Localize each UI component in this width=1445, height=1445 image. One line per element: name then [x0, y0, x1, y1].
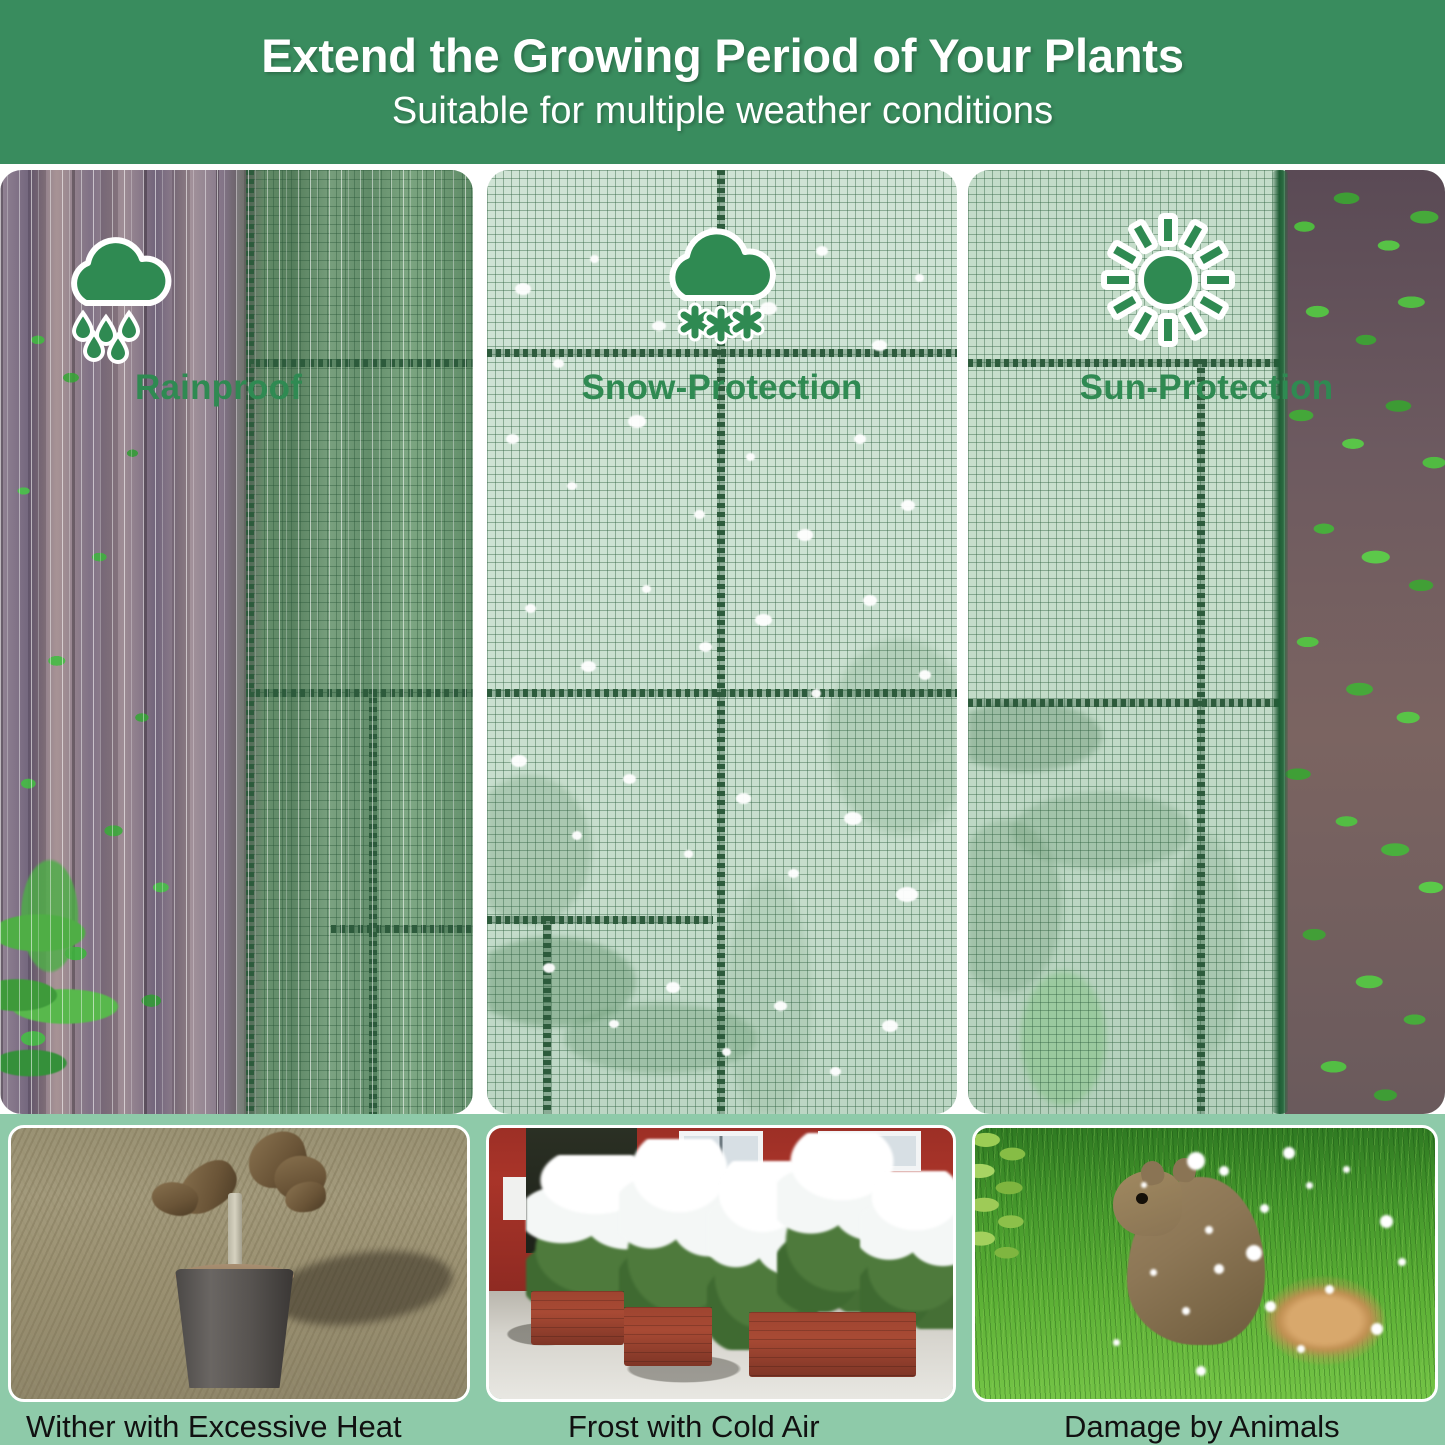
feature-panel-snow-protection: Snow-Protection	[487, 170, 957, 1114]
feature-panel-rainproof: Rainproof	[0, 170, 473, 1114]
feature-panel-sun-protection: Sun-Protection	[968, 170, 1445, 1114]
feature-panels: Rainproof	[0, 170, 1445, 1114]
problem-photo-cold	[486, 1125, 956, 1402]
problem-strip: Wither with Excessive Heat Frost with Co…	[0, 1114, 1445, 1445]
product-feature-infographic: Extend the Growing Period of Your Plants…	[0, 0, 1445, 1445]
rain-cloud-icon	[50, 225, 185, 365]
feature-label-sun-protection: Sun-Protection	[1080, 368, 1334, 408]
problem-caption-cold: Frost with Cold Air	[568, 1409, 820, 1445]
page-title: Extend the Growing Period of Your Plants	[261, 31, 1184, 80]
problem-photo-heat	[8, 1125, 470, 1402]
snow-cloud-icon	[647, 218, 795, 353]
page-subtitle: Suitable for multiple weather conditions	[392, 90, 1053, 133]
problem-photo-animals	[972, 1125, 1438, 1402]
feature-label-rainproof: Rainproof	[135, 368, 302, 408]
problem-caption-animals: Damage by Animals	[1064, 1409, 1340, 1445]
bokeh-dots	[975, 1128, 1435, 1399]
problem-caption-heat: Wither with Excessive Heat	[26, 1409, 402, 1445]
sun-icon	[1098, 210, 1238, 350]
feature-label-snow-protection: Snow-Protection	[581, 368, 862, 408]
header-banner: Extend the Growing Period of Your Plants…	[0, 0, 1445, 164]
